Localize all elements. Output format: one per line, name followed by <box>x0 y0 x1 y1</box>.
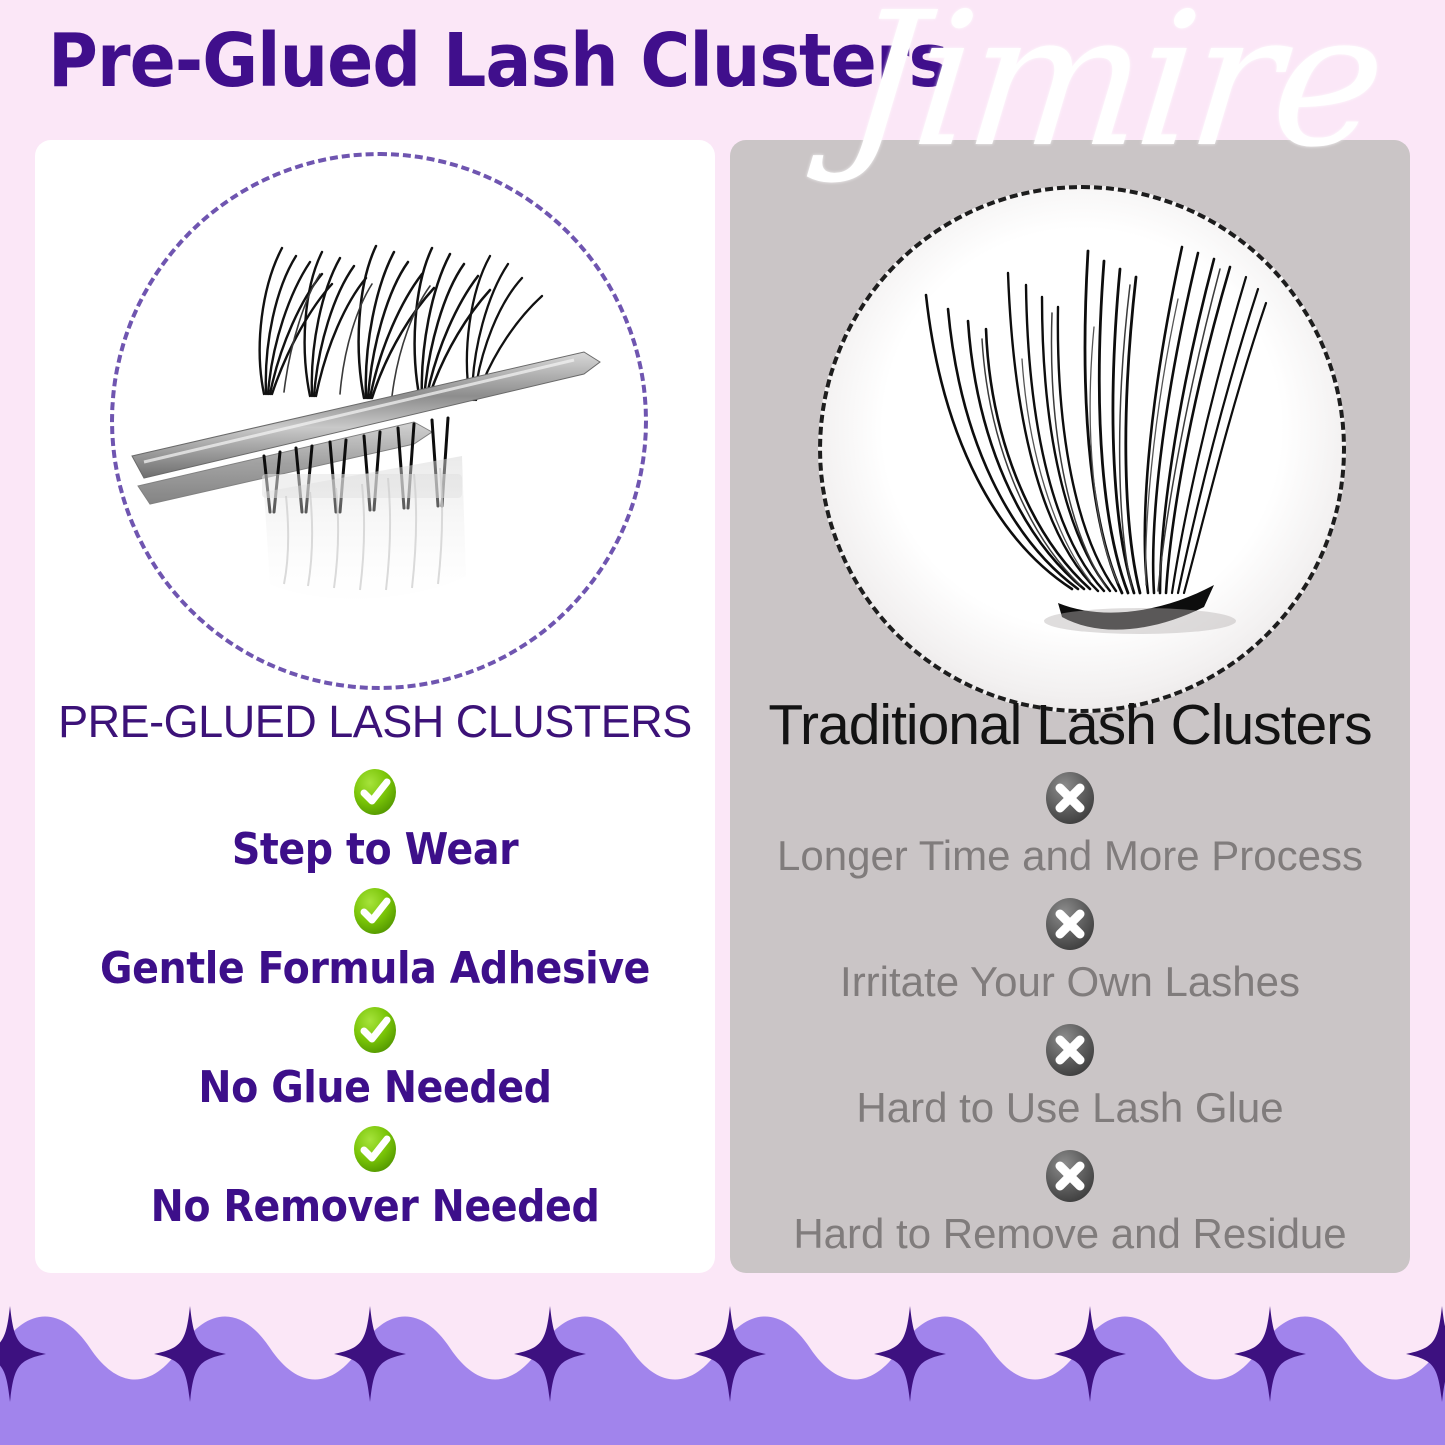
page-title: Pre-Glued Lash Clusters <box>48 18 948 104</box>
cross-circle-icon <box>1042 1146 1098 1206</box>
feature-row: Longer Time and More Process <box>730 768 1410 880</box>
pre-glued-feature-list: Step to Wear Gentle Formula Adhesive No … <box>35 758 715 1242</box>
feature-row: Irritate Your Own Lashes <box>730 894 1410 1006</box>
pre-glued-panel: PRE-GLUED LASH CLUSTERS Step to Wear <box>35 140 715 1273</box>
feature-label: Step to Wear <box>69 824 681 875</box>
check-circle-icon <box>351 885 399 937</box>
traditional-panel: Traditional Lash Clusters Longer Time an… <box>730 140 1410 1273</box>
feature-label: Gentle Formula Adhesive <box>69 943 681 994</box>
feature-row: Gentle Formula Adhesive <box>35 885 715 994</box>
feature-row: Step to Wear <box>35 766 715 875</box>
header-banner: Pre-Glued Lash Clusters <box>0 0 1445 140</box>
feature-label: No Remover Needed <box>69 1181 681 1232</box>
check-circle-icon <box>351 1123 399 1175</box>
feature-label: Hard to Remove and Residue <box>730 1210 1410 1258</box>
pre-glued-lash-illustration <box>114 156 644 686</box>
wave-shape <box>0 1317 1445 1445</box>
feature-row: Hard to Remove and Residue <box>730 1146 1410 1258</box>
traditional-heading: Traditional Lash Clusters <box>730 692 1410 758</box>
traditional-feature-list: Longer Time and More Process Irritate Yo… <box>730 758 1410 1272</box>
traditional-photo-circle <box>818 185 1346 713</box>
traditional-lash-illustration <box>822 189 1342 709</box>
cross-circle-icon <box>1042 894 1098 954</box>
wave-band <box>0 1270 1445 1445</box>
feature-label: Hard to Use Lash Glue <box>730 1084 1410 1132</box>
pre-glued-heading: PRE-GLUED LASH CLUSTERS <box>35 696 715 748</box>
check-circle-icon <box>351 766 399 818</box>
bottom-wave-decoration <box>0 1270 1445 1445</box>
feature-row: No Remover Needed <box>35 1123 715 1232</box>
feature-row: No Glue Needed <box>35 1004 715 1113</box>
feature-label: No Glue Needed <box>69 1062 681 1113</box>
feature-label: Longer Time and More Process <box>730 832 1410 880</box>
cross-circle-icon <box>1042 768 1098 828</box>
cross-circle-icon <box>1042 1020 1098 1080</box>
feature-label: Irritate Your Own Lashes <box>730 958 1410 1006</box>
pre-glued-photo-circle <box>110 152 648 690</box>
check-circle-icon <box>351 1004 399 1056</box>
feature-row: Hard to Use Lash Glue <box>730 1020 1410 1132</box>
